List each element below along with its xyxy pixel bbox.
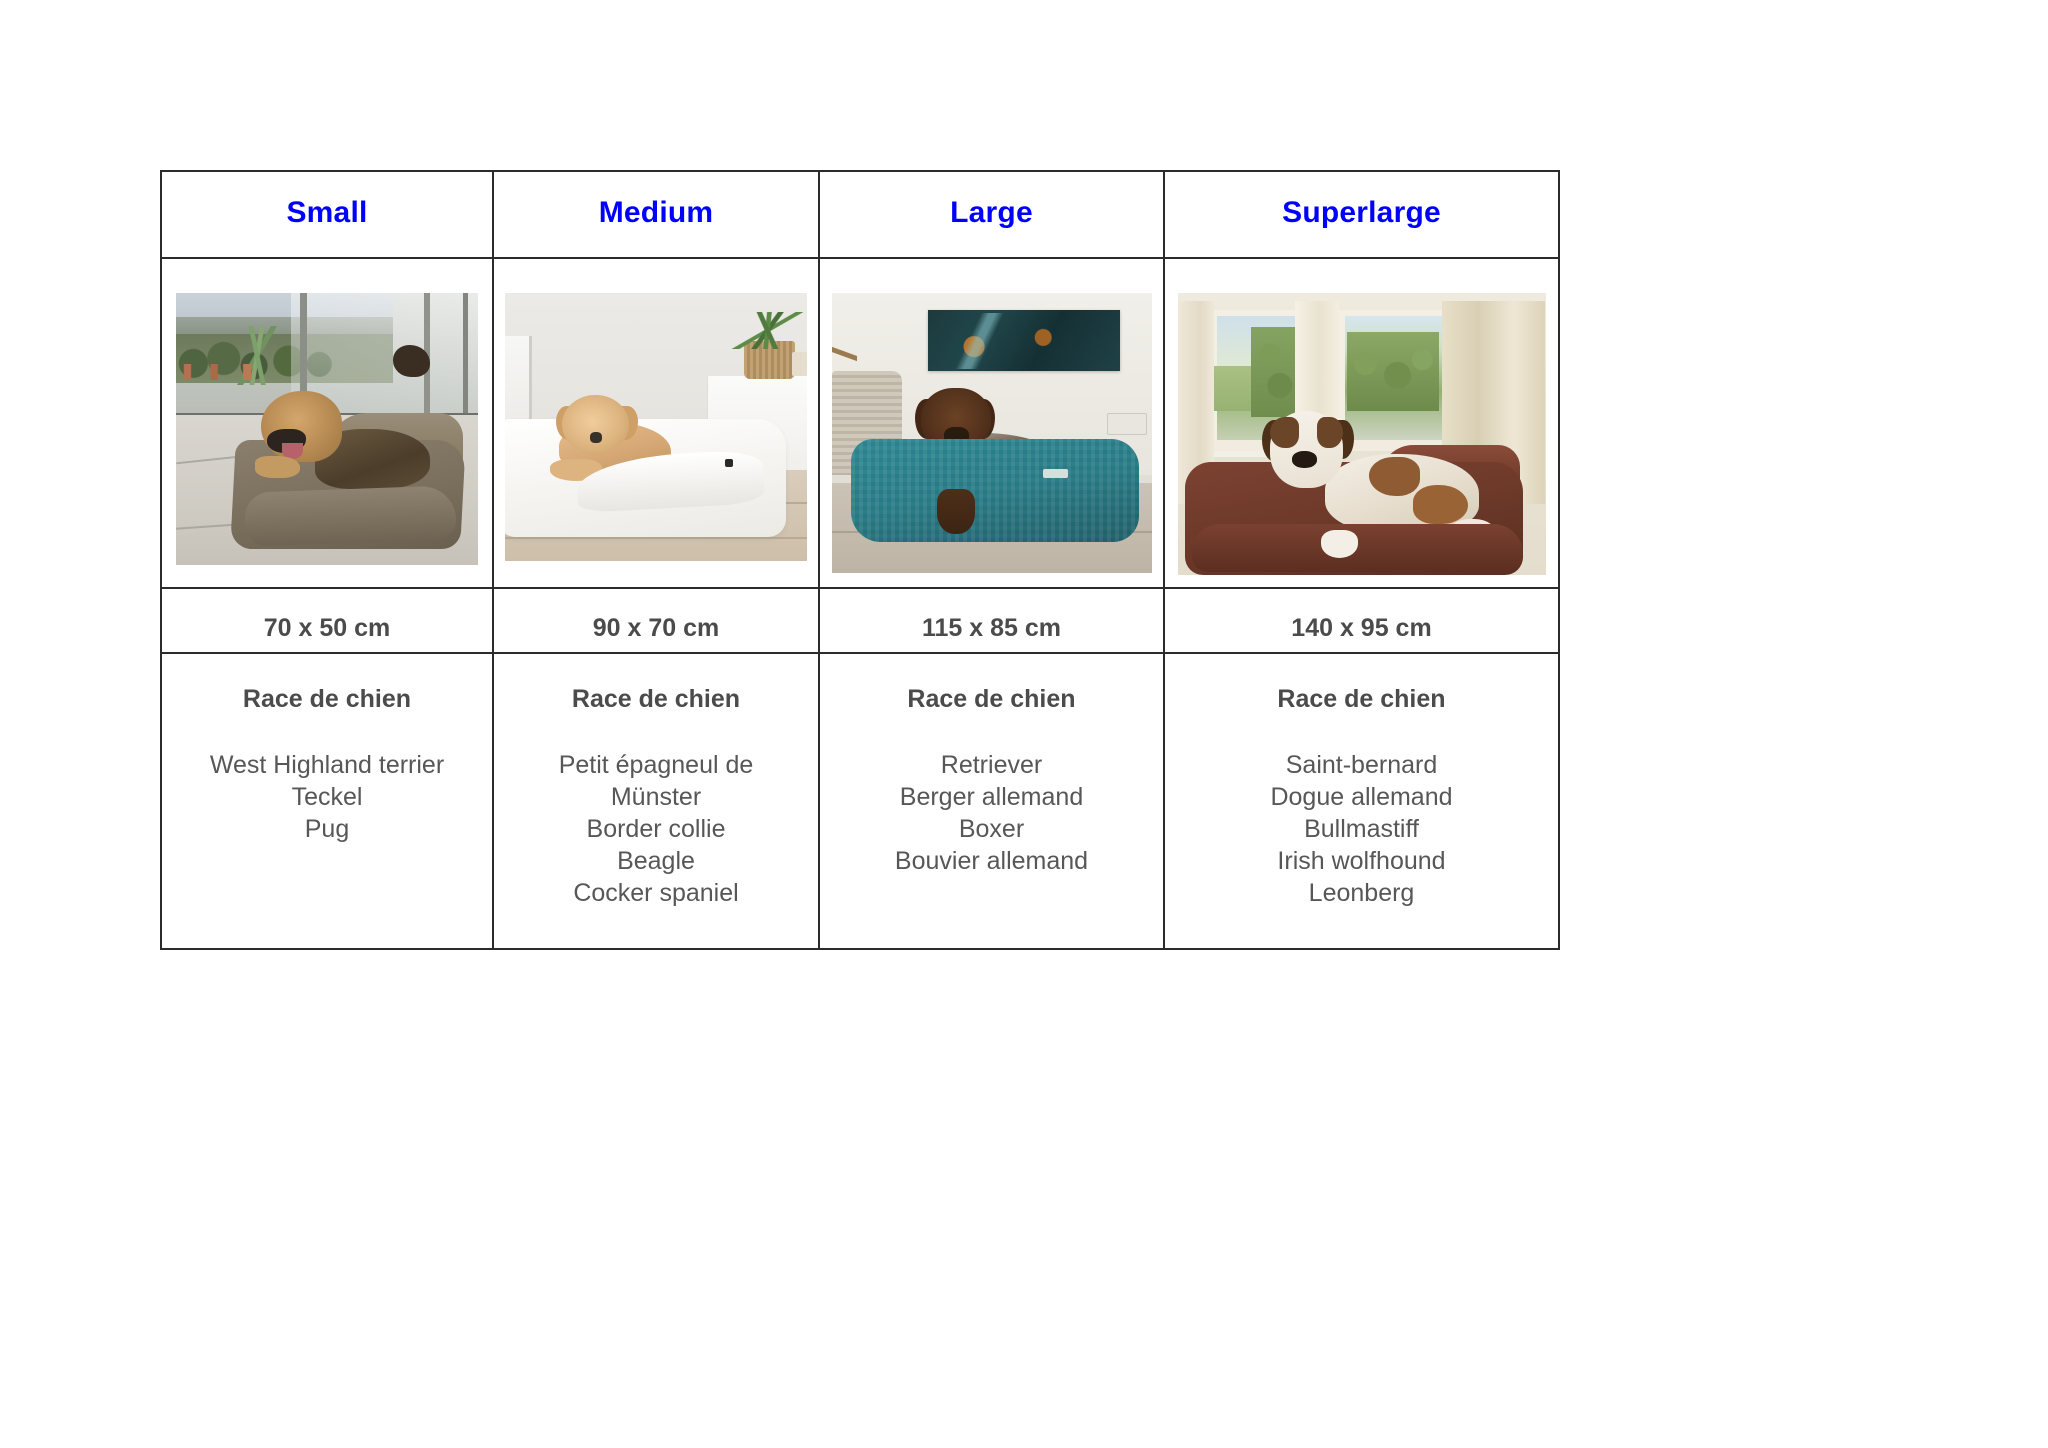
breed-list: Petit épagneul deMünsterBorder collieBea… [494,749,818,909]
photo-layer [590,432,602,443]
table-dimension-row: 70 x 50 cm 90 x 70 cm 115 x 85 cm 140 x … [161,588,1559,653]
breed-list-item: Dogue allemand [1165,781,1558,813]
photo-wrapper [820,259,1163,587]
photo-layer [245,485,458,547]
photo-layer [176,364,297,380]
photo-layer [1251,327,1299,417]
medium-dog-bed-photo [505,293,807,561]
breed-list-item: Teckel [162,781,492,813]
photo-layer [463,293,468,421]
photo-layer [1270,417,1299,448]
header-cell-superlarge: Superlarge [1164,171,1559,258]
breed-list-item: Beagle [494,845,818,877]
breed-list-item: Berger allemand [820,781,1163,813]
breed-section-title: Race de chien [820,687,1163,712]
breed-list-item: Bullmastiff [1165,813,1558,845]
dimension-cell-small: 70 x 50 cm [161,588,493,653]
large-dog-bed-photo [832,293,1152,573]
photo-layer [1317,417,1343,448]
size-header-label: Superlarge [1165,198,1558,232]
breed-list-item: Border collie [494,813,818,845]
superlarge-dog-bed-photo [1178,293,1546,575]
breed-list: RetrieverBerger allemandBoxerBouvier all… [820,749,1163,877]
breed-list-item: Irish wolfhound [1165,845,1558,877]
table-breed-row: Race de chien West Highland terrierTecke… [161,653,1559,949]
breed-block: Race de chien RetrieverBerger allemandBo… [820,654,1163,877]
photo-layer [562,395,628,454]
dimension-label: 90 x 70 cm [494,600,818,641]
breed-block: Race de chien Petit épagneul deMünsterBo… [494,654,818,909]
photo-wrapper [162,259,492,587]
photo-layer [1369,457,1421,496]
photo-layer [1192,524,1523,572]
breed-list-item: Petit épagneul de [494,749,818,781]
breed-list: Saint-bernardDogue allemandBullmastiffIr… [1165,749,1558,909]
size-header-label: Medium [494,198,818,232]
photo-wrapper [494,259,818,587]
size-header-label: Large [820,198,1163,232]
photo-layer [1043,469,1069,477]
photo-cell-superlarge [1164,258,1559,588]
breed-section-title: Race de chien [162,687,492,712]
size-header-label: Small [162,198,492,232]
photo-layer [505,537,807,539]
photo-layer [1413,485,1468,524]
breed-list-item: Pug [162,813,492,845]
header-cell-small: Small [161,171,493,258]
breed-list: West Highland terrierTeckelPug [162,749,492,845]
photo-layer [1107,413,1147,435]
photo-layer [1321,530,1358,558]
header-cell-large: Large [819,171,1164,258]
dimension-label: 70 x 50 cm [162,600,492,641]
photo-layer [505,336,532,432]
breed-cell-superlarge: Race de chien Saint-bernardDogue alleman… [1164,653,1559,949]
small-dog-bed-photo [176,293,478,565]
photo-layer [393,345,429,378]
photo-layer [255,456,300,478]
breed-list-item: Leonberg [1165,877,1558,909]
table-header-row: Small Medium Large Superlarge [161,171,1559,258]
breed-list-item: Boxer [820,813,1163,845]
breed-cell-small: Race de chien West Highland terrierTecke… [161,653,493,949]
photo-layer [937,489,975,534]
breed-list-item: Bouvier allemand [820,845,1163,877]
page-canvas: Small Medium Large Superlarge [0,0,2048,1448]
breed-block: Race de chien Saint-bernardDogue alleman… [1165,654,1558,909]
photo-wrapper [1165,259,1558,587]
breed-list-item: West Highland terrier [162,749,492,781]
breed-cell-large: Race de chien RetrieverBerger allemandBo… [819,653,1164,949]
dimension-cell-medium: 90 x 70 cm [493,588,819,653]
dimension-label: 140 x 95 cm [1165,600,1558,641]
breed-section-title: Race de chien [1165,687,1558,712]
breed-list-item: Saint-bernard [1165,749,1558,781]
breed-cell-medium: Race de chien Petit épagneul deMünsterBo… [493,653,819,949]
photo-cell-small [161,258,493,588]
photo-layer [1347,332,1439,411]
breed-list-item: Retriever [820,749,1163,781]
dimension-label: 115 x 85 cm [820,600,1163,641]
breed-block: Race de chien West Highland terrierTecke… [162,654,492,845]
photo-layer [1292,451,1318,468]
dog-bed-size-table: Small Medium Large Superlarge [160,170,1560,950]
breed-section-title: Race de chien [494,687,818,712]
dimension-cell-large: 115 x 85 cm [819,588,1164,653]
photo-layer [725,459,733,467]
photo-layer [722,312,807,350]
photo-layer [851,439,1139,543]
table-photo-row [161,258,1559,588]
breed-list-item: Cocker spaniel [494,877,818,909]
dimension-cell-superlarge: 140 x 95 cm [1164,588,1559,653]
photo-cell-medium [493,258,819,588]
header-cell-medium: Medium [493,171,819,258]
breed-list-item: Münster [494,781,818,813]
photo-layer [792,352,807,376]
photo-cell-large [819,258,1164,588]
photo-layer [940,313,1017,369]
